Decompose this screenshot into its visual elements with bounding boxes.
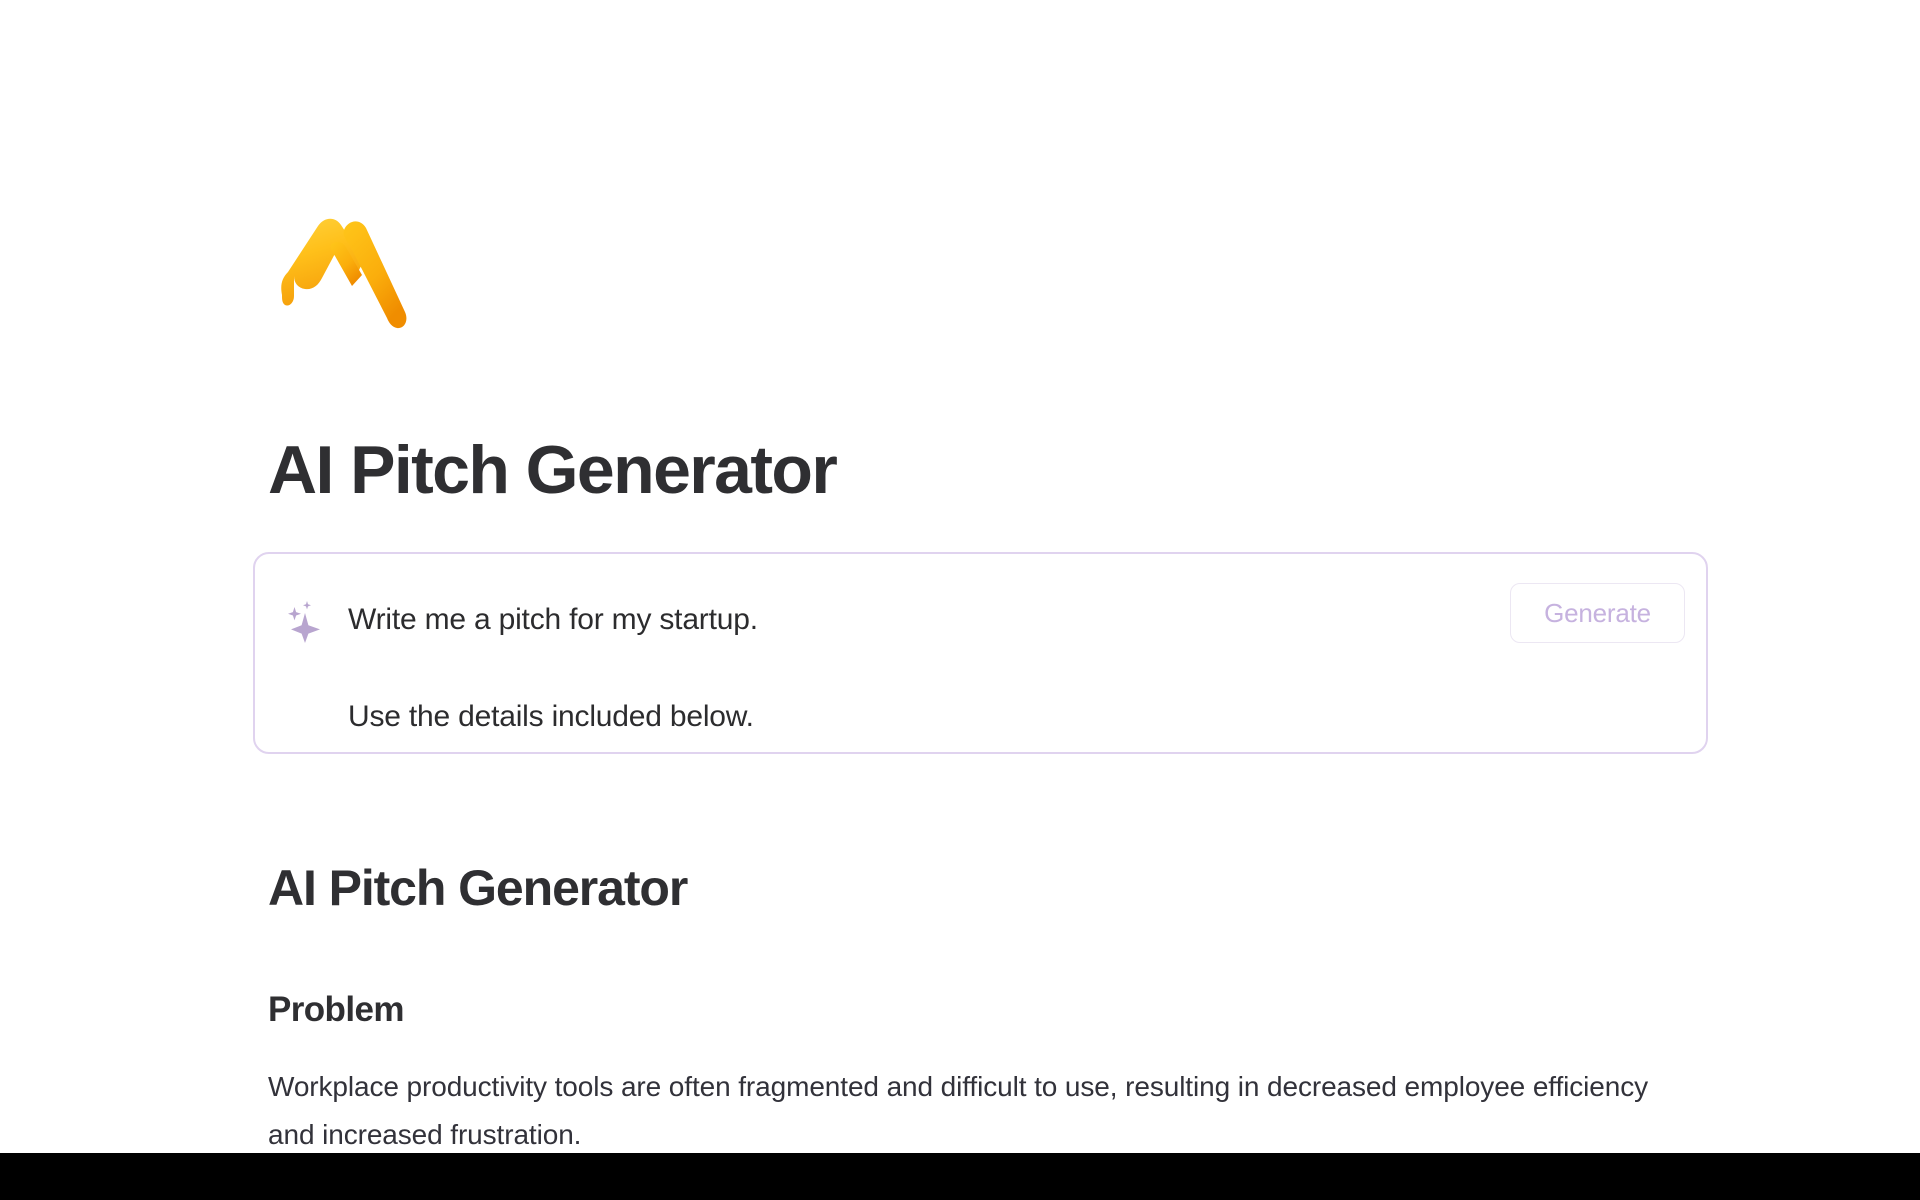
page-title: AI Pitch Generator — [268, 430, 836, 510]
prompt-input-container[interactable]: Write me a pitch for my startup. Use the… — [253, 552, 1708, 754]
section-heading-problem: Problem — [268, 988, 404, 1032]
generate-button[interactable]: Generate — [1510, 583, 1685, 643]
prompt-row: Write me a pitch for my startup. Use the… — [255, 554, 1706, 752]
prompt-text-line-1[interactable]: Write me a pitch for my startup. — [348, 599, 758, 641]
sparkle-icon — [285, 601, 323, 643]
bottom-bar — [0, 1153, 1920, 1200]
section-body-problem: Workplace productivity tools are often f… — [268, 1063, 1653, 1159]
document-title: AI Pitch Generator — [268, 858, 687, 918]
app-page: AI Pitch Generator Write me a pitch for … — [0, 0, 1920, 1200]
mountain-m-logo — [272, 200, 422, 340]
prompt-text-line-2[interactable]: Use the details included below. — [348, 696, 754, 738]
